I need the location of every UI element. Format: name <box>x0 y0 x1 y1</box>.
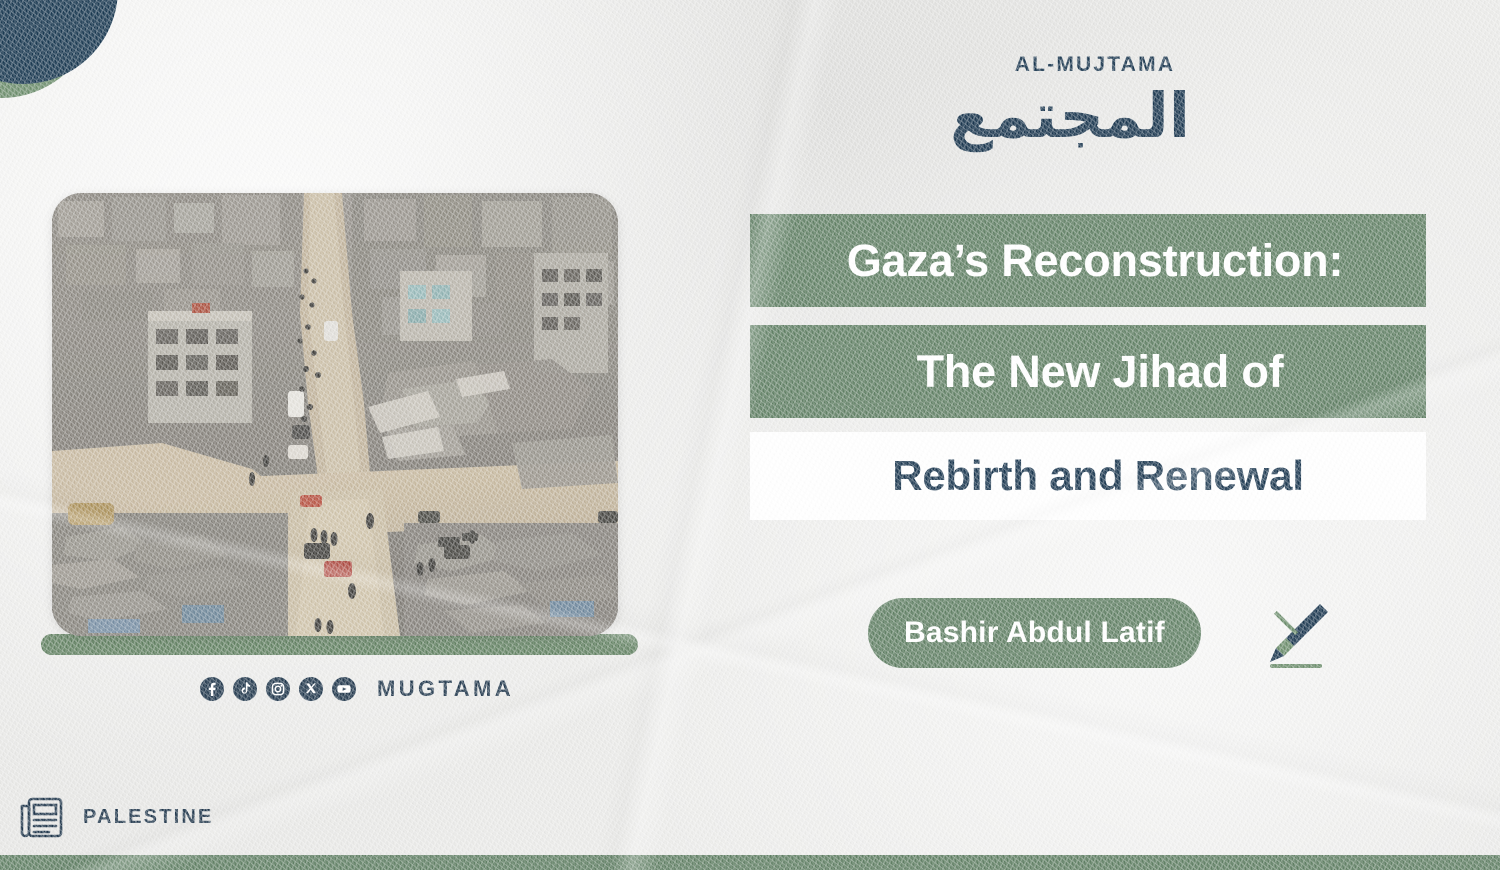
hero-photo <box>52 193 618 636</box>
instagram-icon[interactable] <box>266 677 290 701</box>
tiktok-icon[interactable] <box>233 677 257 701</box>
headline-line-3-text: Rebirth and Renewal <box>892 452 1304 500</box>
headline-line-1-text: Gaza’s Reconstruction: <box>847 235 1344 287</box>
logo-arabic-calligraphy: المجتمع <box>1000 79 1190 152</box>
footer-label: PALESTINE <box>83 806 214 829</box>
footer-bar <box>0 855 1500 870</box>
logo-wordmark: AL-MUJTAMA <box>1000 54 1190 75</box>
poster-canvas: AL-MUJTAMA المجتمع Gaza’s Reconstruction… <box>0 0 1500 870</box>
brand-logo: AL-MUJTAMA المجتمع <box>1000 54 1190 152</box>
corner-circle-navy <box>0 0 118 84</box>
headline-line-2: The New Jihad of <box>750 325 1426 418</box>
author-name: Bashir Abdul Latif <box>904 616 1165 650</box>
x-icon[interactable] <box>299 677 323 701</box>
pen-icon <box>1258 596 1334 672</box>
footer-category: PALESTINE <box>18 796 214 838</box>
hero-photo-art <box>52 193 618 636</box>
photo-underbar <box>41 634 638 655</box>
headline-line-2-text: The New Jihad of <box>917 346 1284 398</box>
author-badge: Bashir Abdul Latif <box>868 598 1201 668</box>
social-handle: MUGTAMA <box>377 676 514 702</box>
newspaper-icon <box>18 796 65 838</box>
headline-line-1: Gaza’s Reconstruction: <box>750 214 1426 307</box>
youtube-icon[interactable] <box>332 677 356 701</box>
headline-line-3: Rebirth and Renewal <box>750 432 1426 520</box>
social-links[interactable]: MUGTAMA <box>200 676 514 702</box>
facebook-icon[interactable] <box>200 677 224 701</box>
